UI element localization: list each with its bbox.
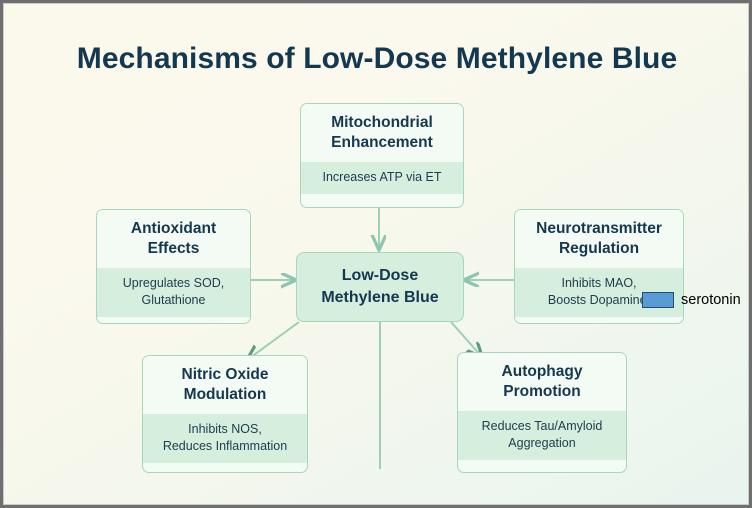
node-detail-line2: Aggregation: [462, 435, 622, 452]
node-detail-line1: Inhibits NOS,: [147, 421, 303, 438]
node-antioxidant-title: Antioxidant Effects: [97, 210, 250, 268]
node-mitochondrial-detail: Increases ATP via ET: [301, 162, 463, 194]
node-title-line1: Antioxidant: [101, 219, 246, 239]
overflow-selection-artifact[interactable]: serotonin: [642, 292, 741, 308]
node-title-line2: Modulation: [147, 385, 303, 405]
overflow-text-serotonin: serotonin: [681, 292, 741, 308]
node-autophagy-promotion[interactable]: Autophagy Promotion Reduces Tau/Amyloid …: [457, 352, 627, 473]
node-mitochondrial-title: Mitochondrial Enhancement: [301, 104, 463, 162]
node-detail-line1: Inhibits MAO,: [519, 275, 679, 292]
node-autophagy-detail: Reduces Tau/Amyloid Aggregation: [458, 411, 626, 460]
selection-swatch[interactable]: [642, 292, 674, 308]
node-title-line2: Promotion: [462, 382, 622, 402]
center-label-line1: Low-Dose: [321, 265, 438, 287]
node-nitric-oxide-title: Nitric Oxide Modulation: [143, 356, 307, 414]
node-neurotransmitter-title: Neurotransmitter Regulation: [515, 210, 683, 268]
node-detail-line2: Glutathione: [101, 292, 246, 309]
node-mitochondrial-enhancement[interactable]: Mitochondrial Enhancement Increases ATP …: [300, 103, 464, 208]
node-detail-line1: Increases ATP via ET: [305, 169, 459, 186]
node-detail-line1: Upregulates SOD,: [101, 275, 246, 292]
node-title-line2: Effects: [101, 239, 246, 259]
node-title-line1: Nitric Oxide: [147, 365, 303, 385]
node-title-line1: Mitochondrial: [305, 113, 459, 133]
center-node-label: Low-Dose Methylene Blue: [321, 265, 438, 309]
node-title-line2: Enhancement: [305, 133, 459, 153]
slide-canvas: Mechanisms of Low-Dose Methylene Blue Mi…: [3, 3, 749, 505]
node-nitric-oxide-detail: Inhibits NOS, Reduces Inflammation: [143, 414, 307, 463]
node-detail-line2: Reduces Inflammation: [147, 438, 303, 455]
node-title-line1: Neurotransmitter: [519, 219, 679, 239]
node-title-line2: Regulation: [519, 239, 679, 259]
node-antioxidant-detail: Upregulates SOD, Glutathione: [97, 268, 250, 317]
center-label-line2: Methylene Blue: [321, 287, 438, 309]
node-antioxidant-effects[interactable]: Antioxidant Effects Upregulates SOD, Glu…: [96, 209, 251, 324]
node-center-low-dose-methylene-blue[interactable]: Low-Dose Methylene Blue: [296, 252, 464, 322]
node-nitric-oxide-modulation[interactable]: Nitric Oxide Modulation Inhibits NOS, Re…: [142, 355, 308, 473]
node-title-line1: Autophagy: [462, 362, 622, 382]
node-autophagy-title: Autophagy Promotion: [458, 353, 626, 411]
node-detail-line1: Reduces Tau/Amyloid: [462, 418, 622, 435]
